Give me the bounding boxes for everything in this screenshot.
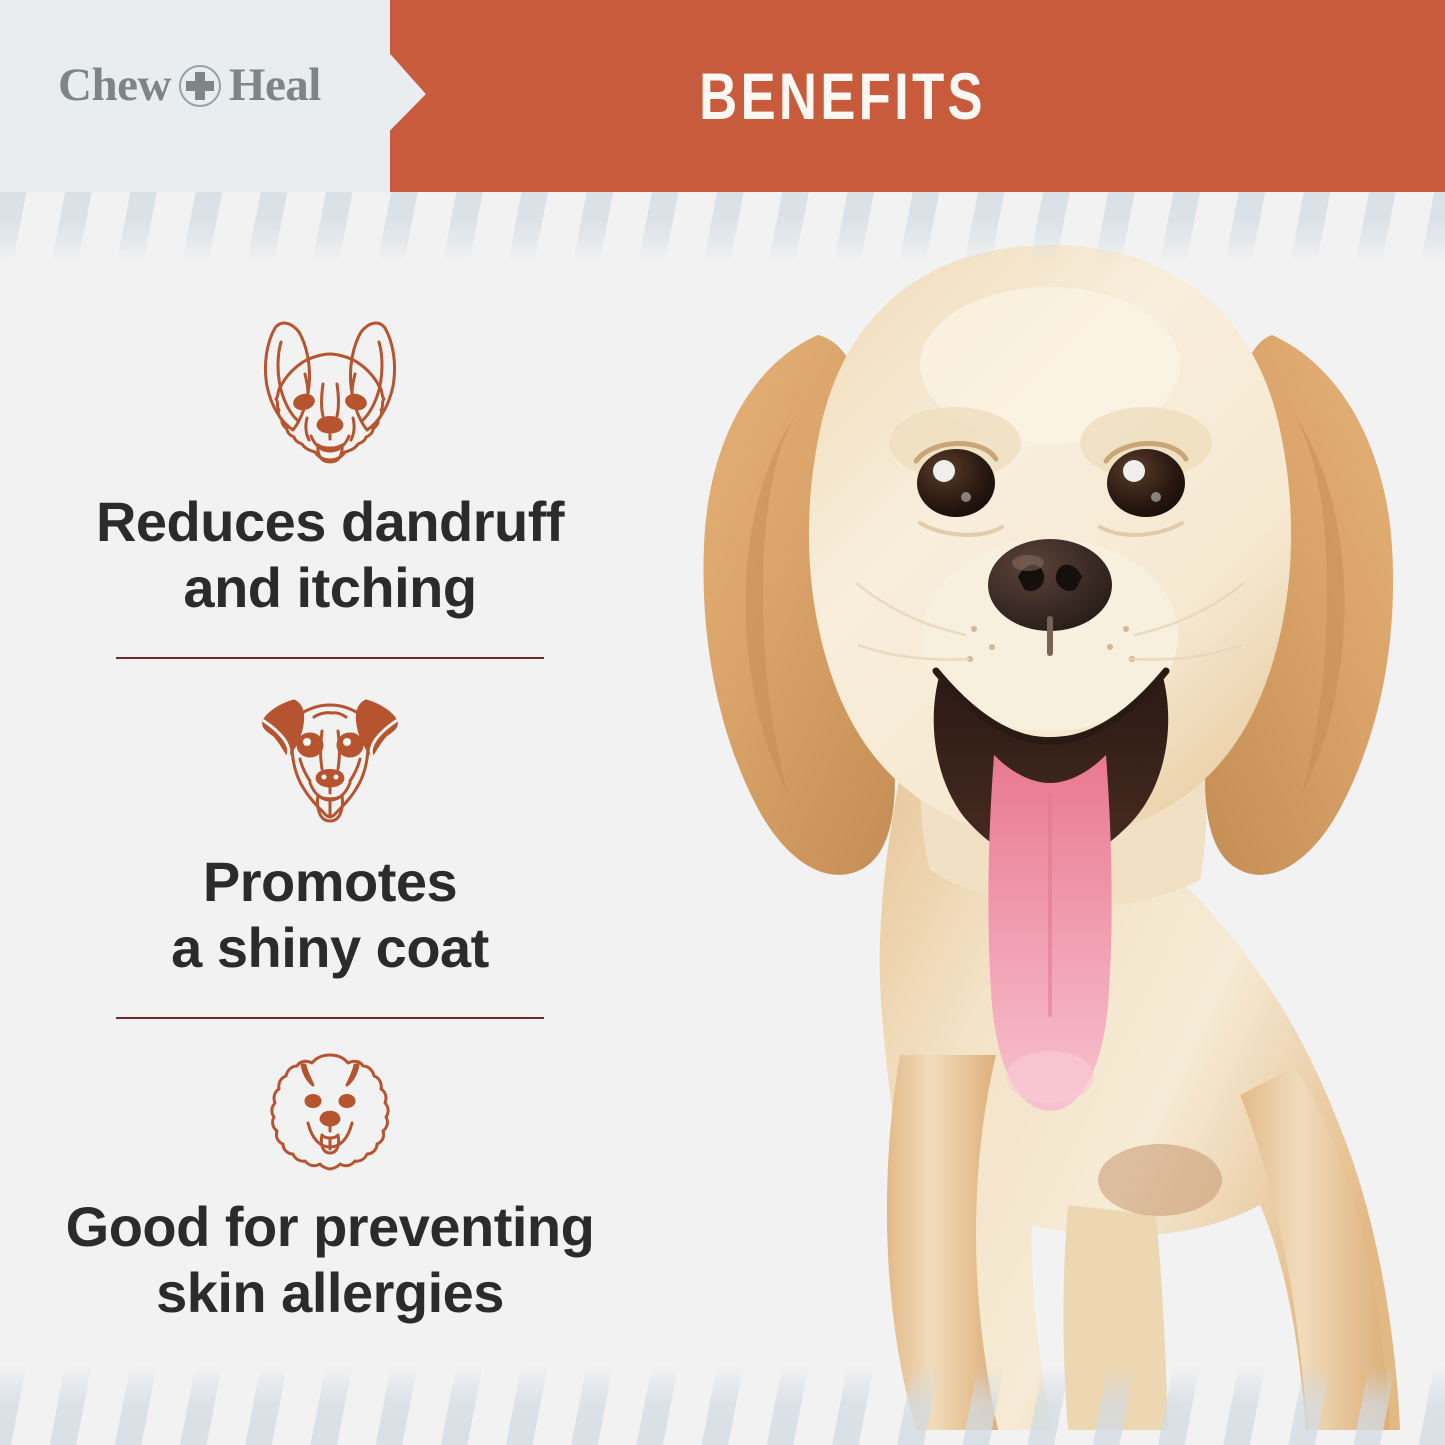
fluffy-pomeranian-dog-face-icon xyxy=(260,1047,400,1172)
benefit-line-1: Reduces dandruff xyxy=(96,490,564,553)
benefit-divider xyxy=(116,657,544,659)
corgi-dog-face-icon xyxy=(245,312,415,467)
benefit-item: Promotes a shiny coat xyxy=(0,687,660,981)
logo-word-heal: Heal xyxy=(229,62,321,109)
benefits-list: Reduces dandruff and itching xyxy=(0,192,660,1445)
benefit-divider xyxy=(116,1017,544,1019)
logo-plus-vertical-bar xyxy=(195,72,205,100)
plus-in-circle-icon xyxy=(179,65,221,107)
benefit-line-2: a shiny coat xyxy=(171,916,489,979)
benefit-label: Good for preventing skin allergies xyxy=(66,1194,595,1326)
bottom-diagonal-stripe-band xyxy=(0,1365,1445,1445)
header-bar: BENEFITS Chew Heal xyxy=(0,0,1445,192)
top-diagonal-stripe-band xyxy=(0,192,1445,262)
benefit-line-1: Good for preventing xyxy=(66,1195,595,1258)
yellow-labrador-puppy-photo xyxy=(600,215,1445,1430)
benefit-line-1: Promotes xyxy=(203,850,457,913)
terrier-dog-face-icon xyxy=(250,687,410,827)
benefit-item: Reduces dandruff and itching xyxy=(0,312,660,621)
benefit-item: Good for preventing skin allergies xyxy=(0,1047,660,1326)
logo-word-chew: Chew xyxy=(58,62,171,109)
benefits-infographic: BENEFITS Chew Heal xyxy=(0,0,1445,1445)
benefit-label: Promotes a shiny coat xyxy=(171,849,489,981)
benefit-label: Reduces dandruff and itching xyxy=(96,489,564,621)
benefit-line-2: skin allergies xyxy=(156,1261,504,1324)
benefit-line-2: and itching xyxy=(183,556,476,619)
brand-logo: Chew Heal xyxy=(58,62,321,109)
